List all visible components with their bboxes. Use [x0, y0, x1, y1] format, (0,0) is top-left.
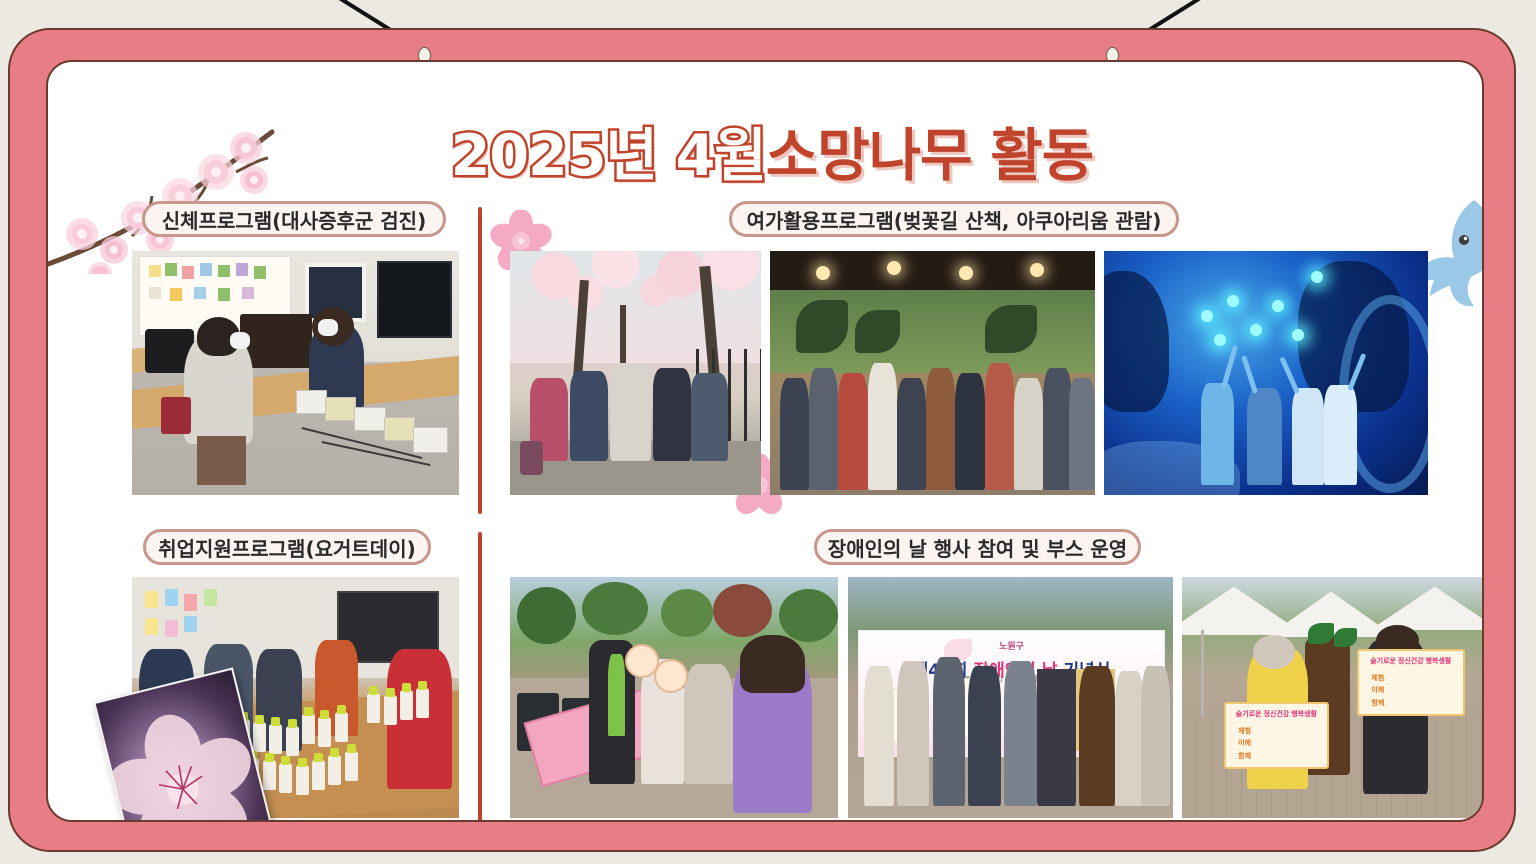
thankyou-card-annotation: ← 벚꽃 감사 카드 — [184, 818, 354, 822]
placard-row-0: 체험 — [1238, 726, 1251, 736]
section-label-leisure-text: 여가활용프로그램(벚꽃길 산책, 아쿠아리움 관람) — [747, 205, 1162, 234]
photo-content — [132, 251, 459, 495]
page-title: 2025년 4월소망나무 활동 — [46, 110, 1484, 192]
monitor — [377, 261, 453, 338]
photo-health-screening — [132, 251, 459, 495]
placard-left: 슬기로운 정신건강 행복생활 체험 이해 함께 — [1224, 702, 1328, 769]
blossom-canopy — [510, 251, 761, 363]
section-label-physical: 신체프로그램(대사증후군 검진) — [142, 201, 446, 237]
red-bag — [161, 397, 190, 434]
host-logo: 노원구 — [999, 639, 1024, 652]
photo-content — [1104, 251, 1428, 495]
photo-ceremony-group: 노원구 제45회 장애인의 날 기념식 2025. 4. 18.(금) / 시립… — [848, 577, 1173, 818]
section-label-disability-day-text: 장애인의 날 행사 참여 및 부스 운영 — [828, 533, 1127, 562]
placard-title: 슬기로운 정신건강 행복생활 — [1226, 709, 1326, 719]
placard-row-0: 체험 — [1371, 673, 1384, 683]
placard-row-2: 함께 — [1371, 698, 1384, 708]
poster-stage: 2025년 4월소망나무 활동 — [0, 0, 1536, 864]
photo-booth-operation: 슬기로운 정신건강 행복생활 체험 이해 함께 슬기로운 정신건강 행복생활 체… — [1182, 577, 1484, 818]
photo-cherry-blossom-walk — [510, 251, 761, 495]
photo-content: 노원구 제45회 장애인의 날 기념식 2025. 4. 18.(금) / 시립… — [848, 577, 1173, 818]
placard-right: 슬기로운 정신건강 행복생활 체험 이해 함께 — [1357, 649, 1465, 716]
placard-title: 슬기로운 정신건강 행복생활 — [1359, 656, 1463, 666]
photo-group-photo-indoor — [770, 251, 1095, 495]
photo-content: 슬기로운 정신건강 행복생활 체험 이해 함께 슬기로운 정신건강 행복생활 체… — [1182, 577, 1484, 818]
section-label-physical-text: 신체프로그램(대사증후군 검진) — [162, 205, 426, 234]
photo-content — [770, 251, 1095, 495]
title-subject: 소망나무 활동 — [766, 123, 1093, 189]
placard-row-2: 함께 — [1238, 751, 1251, 761]
column-divider-top — [478, 207, 482, 514]
section-label-employment-text: 취업지원프로그램(요거트데이) — [158, 533, 415, 562]
stool — [197, 436, 246, 485]
poster-canvas: 2025년 4월소망나무 활동 — [46, 60, 1484, 822]
placard-row-1: 이해 — [1371, 685, 1384, 695]
photo-content — [510, 251, 761, 495]
section-label-leisure: 여가활용프로그램(벚꽃길 산책, 아쿠아리움 관람) — [729, 201, 1179, 237]
section-label-employment: 취업지원프로그램(요거트데이) — [143, 529, 431, 565]
poster-frame: 2025년 4월소망나무 활동 — [8, 28, 1516, 852]
title-period: 2025년 4월 — [451, 123, 766, 189]
photo-park-booth-kids — [510, 577, 838, 818]
photo-content — [510, 577, 838, 818]
section-label-disability-day: 장애인의 날 행사 참여 및 부스 운영 — [814, 529, 1141, 565]
column-divider-bottom — [478, 532, 482, 822]
photo-aquarium-tunnel — [1104, 251, 1428, 495]
placard-row-1: 이해 — [1238, 738, 1251, 748]
